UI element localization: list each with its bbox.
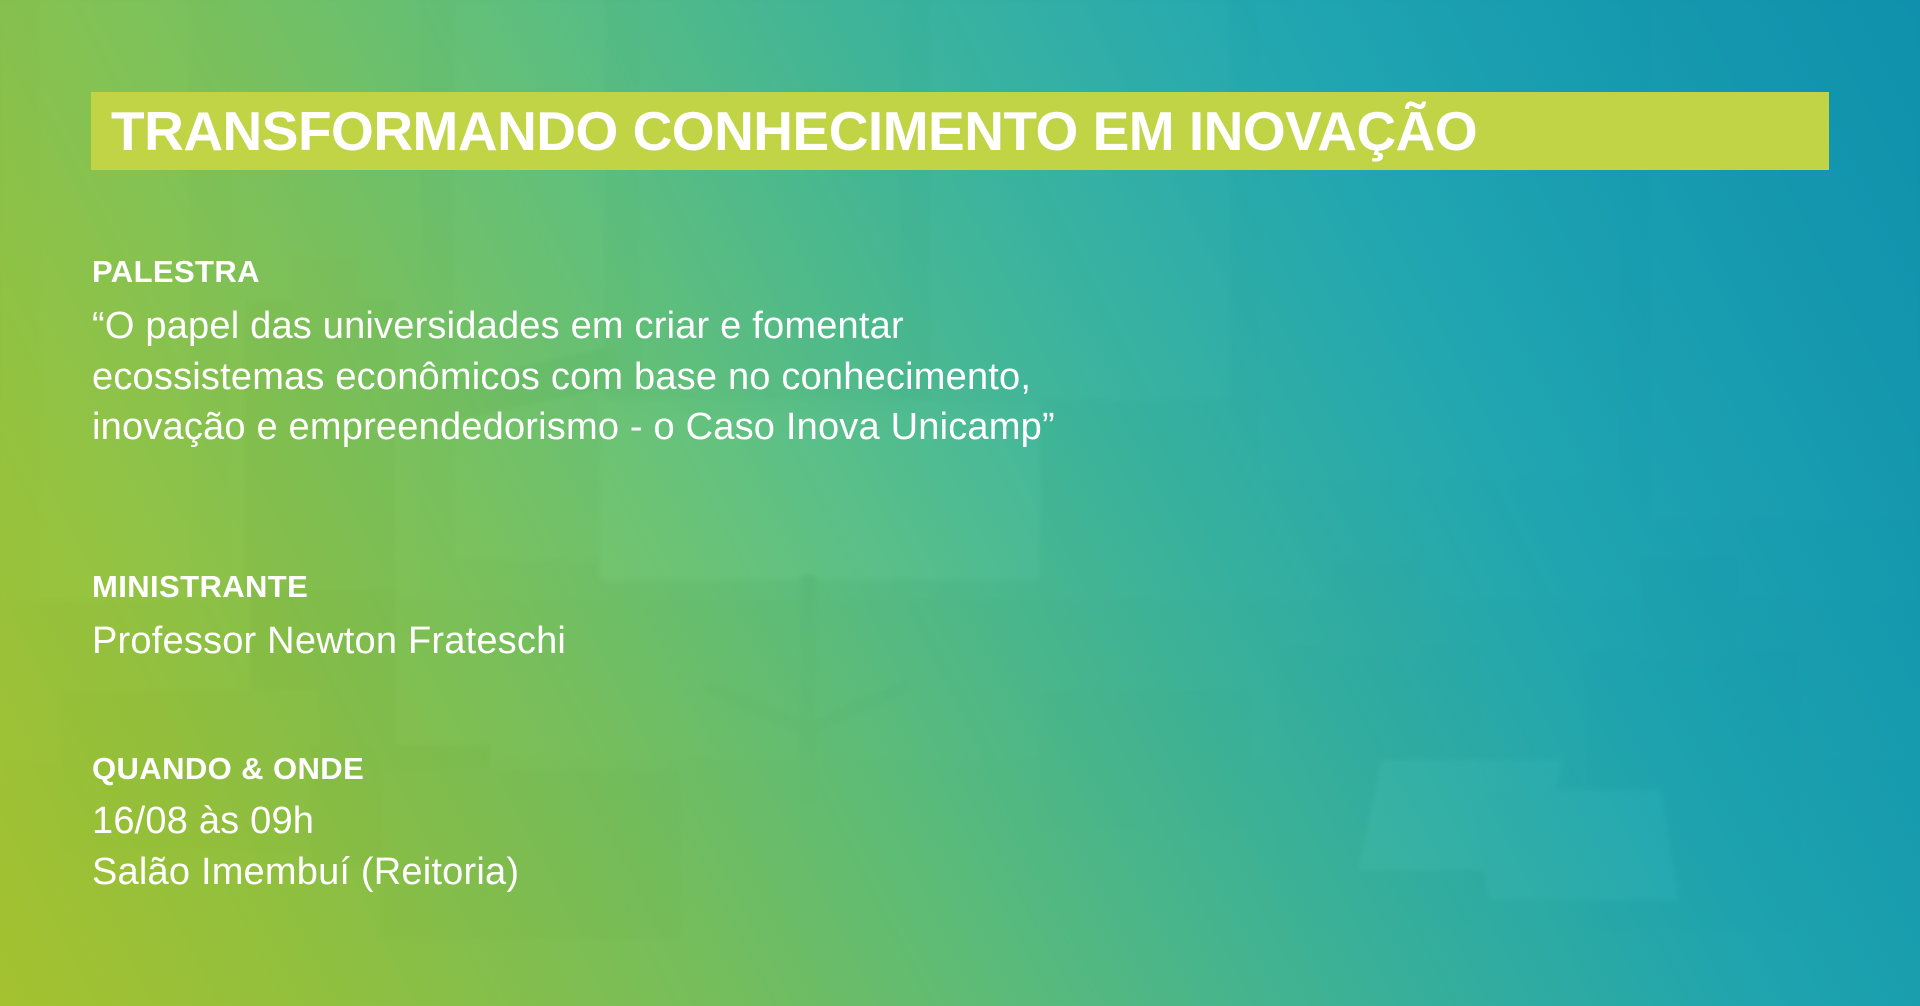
palestra-line-1: “O papel das universidades em criar e fo…	[92, 301, 1055, 352]
ministrante-body: Professor Newton Frateschi	[92, 616, 566, 667]
logo-row: UFSM agittec AGÊNCIA DE INOVAÇÃO E TRANS…	[0, 838, 1920, 958]
banner-content: TRANSFORMANDO CONHECIMENTO EM INOVAÇÃO P…	[0, 0, 1920, 1006]
palestra-body: “O papel das universidades em criar e fo…	[92, 301, 1055, 453]
ministrante-line-1: Professor Newton Frateschi	[92, 616, 566, 667]
ministrante-label: MINISTRANTE	[92, 570, 566, 604]
palestra-label: PALESTRA	[92, 255, 1055, 289]
palestra-line-2: ecossistemas econômicos com base no conh…	[92, 352, 1055, 403]
event-banner: TRANSFORMANDO CONHECIMENTO EM INOVAÇÃO P…	[0, 0, 1920, 1006]
headline-bar: TRANSFORMANDO CONHECIMENTO EM INOVAÇÃO	[91, 92, 1829, 170]
headline-text: TRANSFORMANDO CONHECIMENTO EM INOVAÇÃO	[111, 104, 1477, 159]
section-ministrante: MINISTRANTE Professor Newton Frateschi	[92, 570, 566, 667]
section-palestra: PALESTRA “O papel das universidades em c…	[92, 255, 1055, 453]
quando-onde-label: QUANDO & ONDE	[92, 752, 519, 786]
palestra-line-3: inovação e empreendedorismo - o Caso Ino…	[92, 402, 1055, 453]
